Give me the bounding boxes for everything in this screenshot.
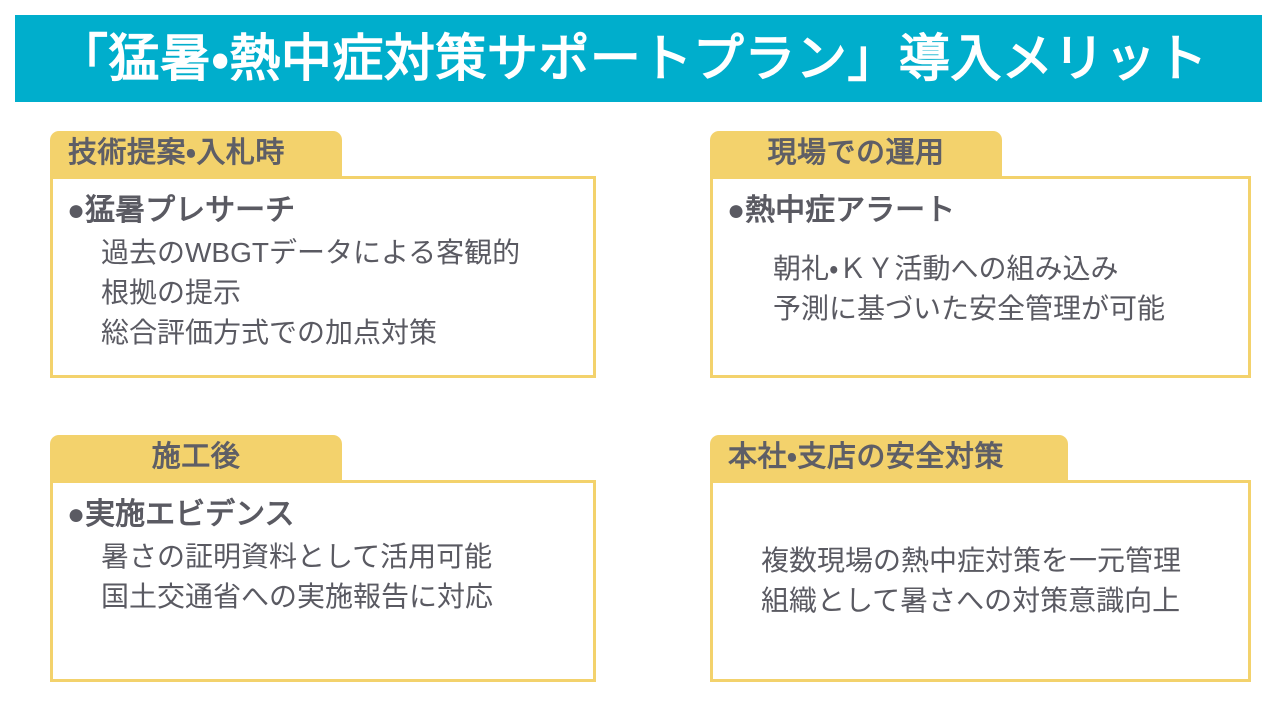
slide-canvas: 「猛暑・熱中症対策サポートプラン」導入メリット 技術提案・入札時 ●猛暑プレサー… [0, 0, 1280, 720]
list-item: 根拠の提示 [101, 273, 593, 313]
card-heading: ●猛暑プレサーチ [53, 179, 593, 233]
card-tab-label: 施工後 [152, 443, 241, 472]
list-item: 総合評価方式での加点対策 [101, 313, 593, 353]
card-body-post-construction: ●実施エビデンス 暑さの証明資料として活用可能 国土交通省への実施報告に対応 [50, 480, 596, 682]
card-line-list: 暑さの証明資料として活用可能 国土交通省への実施報告に対応 [53, 537, 593, 617]
slide-title-banner: 「猛暑・熱中症対策サポートプラン」導入メリット [15, 15, 1262, 102]
list-item: 過去のWBGTデータによる客観的 [101, 233, 593, 273]
card-tab-technical-proposal: 技術提案・入札時 [50, 131, 342, 176]
page-title: 「猛暑・熱中症対策サポートプラン」導入メリット [57, 33, 1208, 84]
card-line-list: 複数現場の熱中症対策を一元管理 組織として暑さへの対策意識向上 [713, 541, 1248, 621]
card-line-list: 朝礼・ＫＹ活動への組み込み 予測に基づいた安全管理が可能 [713, 233, 1248, 329]
list-item: 朝礼・ＫＹ活動への組み込み [773, 249, 1248, 289]
card-tab-site-operation: 現場での運用 [710, 131, 1002, 176]
list-item: 組織として暑さへの対策意識向上 [761, 581, 1248, 621]
card-body-headquarters-safety: 複数現場の熱中症対策を一元管理 組織として暑さへの対策意識向上 [710, 480, 1251, 682]
card-tab-post-construction: 施工後 [50, 435, 342, 480]
card-heading: ●実施エビデンス [53, 483, 593, 537]
list-item: 国土交通省への実施報告に対応 [101, 577, 593, 617]
card-tab-label: 現場での運用 [767, 139, 944, 168]
card-body-technical-proposal: ●猛暑プレサーチ 過去のWBGTデータによる客観的 根拠の提示 総合評価方式での… [50, 176, 596, 378]
card-tab-headquarters-safety: 本社・支店の安全対策 [710, 435, 1068, 480]
list-item: 予測に基づいた安全管理が可能 [773, 289, 1248, 329]
list-item: 複数現場の熱中症対策を一元管理 [761, 541, 1248, 581]
card-heading: ●熱中症アラート [713, 179, 1248, 233]
card-tab-label: 技術提案・入札時 [68, 139, 285, 168]
card-body-site-operation: ●熱中症アラート 朝礼・ＫＹ活動への組み込み 予測に基づいた安全管理が可能 [710, 176, 1251, 378]
card-tab-label: 本社・支店の安全対策 [728, 443, 1004, 472]
card-line-list: 過去のWBGTデータによる客観的 根拠の提示 総合評価方式での加点対策 [53, 233, 593, 353]
list-item: 暑さの証明資料として活用可能 [101, 537, 593, 577]
